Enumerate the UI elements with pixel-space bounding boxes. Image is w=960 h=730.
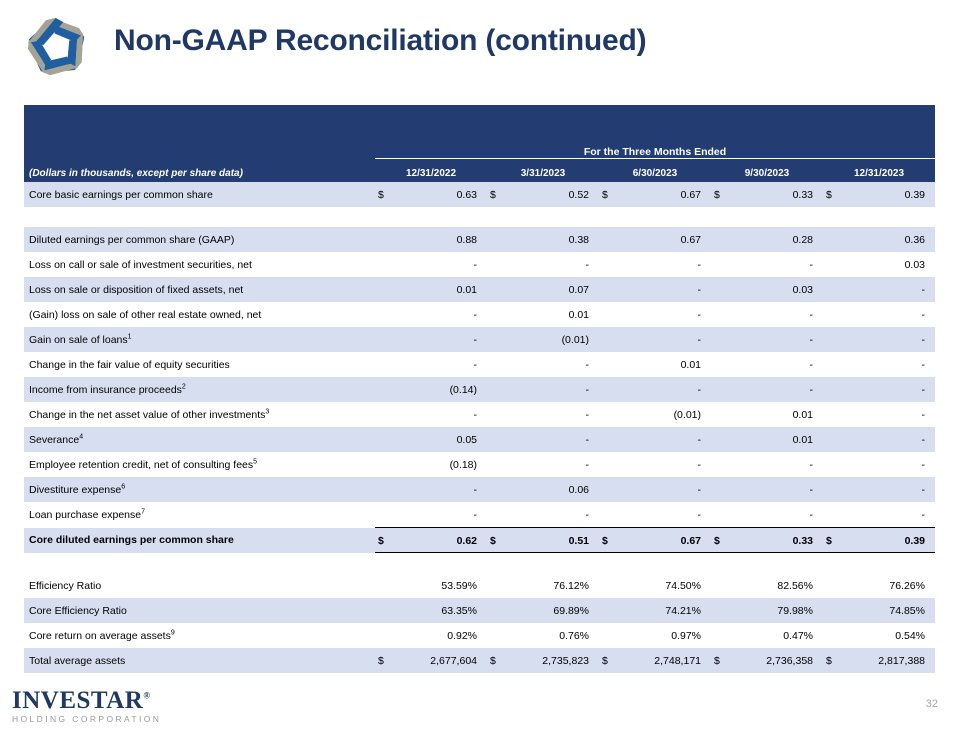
table-cell-value: 0.51: [509, 528, 599, 554]
table-cell-value: -: [397, 252, 487, 277]
table-cell-value: 0.03: [845, 252, 935, 277]
currency-symbol-cell: [375, 302, 397, 327]
table-row: Loss on sale or disposition of fixed ass…: [24, 277, 935, 302]
table-cell-value: 76.12%: [509, 573, 599, 598]
currency-symbol-cell: [375, 252, 397, 277]
table-cell-value: 0.01: [621, 352, 711, 377]
currency-symbol-cell: [823, 352, 845, 377]
currency-symbol-cell: [823, 477, 845, 502]
row-label: Loss on sale or disposition of fixed ass…: [24, 277, 375, 302]
table-row: Efficiency Ratio53.59%76.12%74.50%82.56%…: [24, 573, 935, 598]
table-cell-value: (0.14): [397, 377, 487, 402]
table-cell-value: -: [397, 502, 487, 528]
spacer-cell: [24, 207, 935, 227]
table-cell-value: 0.67: [621, 528, 711, 554]
table-cell-value: -: [621, 327, 711, 352]
currency-symbol-cell: [487, 623, 509, 648]
currency-symbol-cell: [599, 573, 621, 598]
currency-symbol-cell: [375, 227, 397, 252]
unit-label: (Dollars in thousands, except per share …: [24, 159, 375, 183]
table-row: Loan purchase expense7-----: [24, 502, 935, 528]
table-cell-value: -: [733, 477, 823, 502]
currency-symbol-cell: [823, 327, 845, 352]
currency-symbol-cell: $: [711, 182, 733, 207]
table-cell-value: 69.89%: [509, 598, 599, 623]
currency-symbol-cell: [823, 623, 845, 648]
table-cell-value: 2,817,388: [845, 648, 935, 673]
currency-symbol-cell: [823, 227, 845, 252]
table-cell-value: (0.18): [397, 452, 487, 477]
table-cell-value: -: [845, 402, 935, 427]
spacer-cell: [24, 553, 935, 573]
table-cell-value: 79.98%: [733, 598, 823, 623]
currency-symbol-cell: [375, 573, 397, 598]
table-row: Diluted earnings per common share (GAAP)…: [24, 227, 935, 252]
currency-symbol-cell: [711, 302, 733, 327]
table-row: Core diluted earnings per common share$0…: [24, 528, 935, 554]
currency-symbol-cell: [487, 427, 509, 452]
currency-symbol-cell: [711, 252, 733, 277]
currency-symbol-cell: $: [375, 182, 397, 207]
currency-symbol-cell: $: [487, 528, 509, 554]
table-cell-value: 0.07: [509, 277, 599, 302]
row-label: Divestiture expense6: [24, 477, 375, 502]
column-header-1: 3/31/2023: [487, 159, 599, 183]
table-cell-value: 0.06: [509, 477, 599, 502]
row-label: Change in the fair value of equity secur…: [24, 352, 375, 377]
table-cell-value: -: [509, 427, 599, 452]
table-cell-value: -: [397, 302, 487, 327]
currency-symbol-cell: [487, 402, 509, 427]
footnote-marker: 2: [182, 383, 186, 390]
currency-symbol-cell: $: [823, 648, 845, 673]
table-cell-value: -: [509, 377, 599, 402]
row-label: Severance4: [24, 427, 375, 452]
table-cell-value: -: [621, 377, 711, 402]
currency-symbol-cell: $: [823, 182, 845, 207]
table-cell-value: (0.01): [509, 327, 599, 352]
currency-symbol-cell: [599, 302, 621, 327]
table-cell-value: 0.76%: [509, 623, 599, 648]
table-row: Core Efficiency Ratio63.35%69.89%74.21%7…: [24, 598, 935, 623]
currency-symbol-cell: [375, 427, 397, 452]
currency-symbol-cell: [711, 277, 733, 302]
currency-symbol-cell: [487, 377, 509, 402]
footnote-marker: 6: [121, 483, 125, 490]
currency-symbol-cell: [823, 598, 845, 623]
table-cell-value: 0.92%: [397, 623, 487, 648]
table-row: Change in the net asset value of other i…: [24, 402, 935, 427]
table-cell-value: 63.35%: [397, 598, 487, 623]
footer-tagline: HOLDING CORPORATION: [12, 714, 172, 724]
currency-symbol-cell: [823, 452, 845, 477]
currency-symbol-cell: $: [599, 528, 621, 554]
table-cell-value: -: [845, 452, 935, 477]
row-spacer: [24, 553, 935, 573]
header-group-row: For the Three Months Ended: [24, 138, 935, 159]
table-cell-value: 0.39: [845, 528, 935, 554]
table-cell-value: -: [621, 502, 711, 528]
currency-symbol-cell: [375, 623, 397, 648]
row-spacer: [24, 207, 935, 227]
footnote-marker: 3: [265, 408, 269, 415]
currency-symbol-cell: [375, 402, 397, 427]
header-dates-row: (Dollars in thousands, except per share …: [24, 159, 935, 183]
currency-symbol-cell: [599, 227, 621, 252]
row-label: Diluted earnings per common share (GAAP): [24, 227, 375, 252]
footer-company-name: INVESTAR®: [12, 688, 172, 713]
currency-symbol-cell: [711, 477, 733, 502]
table-header: For the Three Months Ended (Dollars in t…: [24, 105, 935, 182]
table-cell-value: -: [733, 377, 823, 402]
table-cell-value: 74.85%: [845, 598, 935, 623]
currency-symbol-cell: $: [375, 648, 397, 673]
currency-symbol-cell: [599, 452, 621, 477]
row-label: Gain on sale of loans1: [24, 327, 375, 352]
table-cell-value: 0.33: [733, 528, 823, 554]
footnote-marker: 4: [79, 433, 83, 440]
table-cell-value: -: [621, 477, 711, 502]
page-number: 32: [926, 698, 938, 710]
currency-symbol-cell: $: [487, 648, 509, 673]
currency-symbol-cell: [599, 352, 621, 377]
currency-symbol-cell: [711, 573, 733, 598]
table-cell-value: 76.26%: [845, 573, 935, 598]
table-cell-value: -: [397, 327, 487, 352]
row-label: Efficiency Ratio: [24, 573, 375, 598]
column-header-0: 12/31/2022: [375, 159, 487, 183]
table-row: Severance40.05--0.01-: [24, 427, 935, 452]
table-cell-value: -: [845, 277, 935, 302]
table-body: Core basic earnings per common share$0.6…: [24, 182, 935, 673]
table-row: Divestiture expense6-0.06---: [24, 477, 935, 502]
currency-symbol-cell: $: [711, 528, 733, 554]
currency-symbol-cell: [711, 623, 733, 648]
table-cell-value: -: [621, 427, 711, 452]
row-label: Loss on call or sale of investment secur…: [24, 252, 375, 277]
table-cell-value: 0.05: [397, 427, 487, 452]
currency-symbol-cell: [823, 427, 845, 452]
currency-symbol-cell: [487, 252, 509, 277]
table-cell-value: -: [733, 252, 823, 277]
table-cell-value: -: [733, 327, 823, 352]
table-cell-value: 0.03: [733, 277, 823, 302]
table-cell-value: 0.36: [845, 227, 935, 252]
currency-symbol-cell: [599, 402, 621, 427]
currency-symbol-cell: $: [375, 528, 397, 554]
group-header-label: For the Three Months Ended: [375, 138, 935, 159]
table-cell-value: 0.01: [509, 302, 599, 327]
currency-symbol-cell: $: [599, 648, 621, 673]
table-row: Change in the fair value of equity secur…: [24, 352, 935, 377]
table-row: Employee retention credit, net of consul…: [24, 452, 935, 477]
column-header-4: 12/31/2023: [823, 159, 935, 183]
table-row: (Gain) loss on sale of other real estate…: [24, 302, 935, 327]
row-label: Core return on average assets9: [24, 623, 375, 648]
table-cell-value: 0.38: [509, 227, 599, 252]
column-header-3: 9/30/2023: [711, 159, 823, 183]
currency-symbol-cell: [599, 327, 621, 352]
currency-symbol-cell: [487, 502, 509, 528]
currency-symbol-cell: [375, 352, 397, 377]
table-cell-value: 0.33: [733, 182, 823, 207]
table-cell-value: -: [509, 502, 599, 528]
currency-symbol-cell: [375, 598, 397, 623]
currency-symbol-cell: [823, 377, 845, 402]
currency-symbol-cell: [487, 452, 509, 477]
currency-symbol-cell: [711, 377, 733, 402]
currency-symbol-cell: [823, 573, 845, 598]
currency-symbol-cell: [823, 252, 845, 277]
row-label: Core diluted earnings per common share: [24, 528, 375, 554]
currency-symbol-cell: [599, 427, 621, 452]
footer-logo: INVESTAR® HOLDING CORPORATION: [12, 688, 172, 724]
currency-symbol-cell: [487, 327, 509, 352]
currency-symbol-cell: [487, 227, 509, 252]
footer-company-text: INVESTAR: [12, 687, 143, 714]
footnote-marker: 5: [253, 458, 257, 465]
table-row: Core return on average assets90.92%0.76%…: [24, 623, 935, 648]
table-cell-value: -: [621, 452, 711, 477]
table-cell-value: -: [621, 277, 711, 302]
currency-symbol-cell: [487, 598, 509, 623]
currency-symbol-cell: [823, 277, 845, 302]
footnote-marker: 7: [141, 508, 145, 515]
row-label: (Gain) loss on sale of other real estate…: [24, 302, 375, 327]
currency-symbol-cell: [375, 452, 397, 477]
table-cell-value: 0.01: [397, 277, 487, 302]
currency-symbol-cell: [711, 598, 733, 623]
table-row: Income from insurance proceeds2(0.14)---…: [24, 377, 935, 402]
table-cell-value: -: [845, 477, 935, 502]
currency-symbol-cell: $: [823, 528, 845, 554]
currency-symbol-cell: [487, 277, 509, 302]
table-cell-value: 0.54%: [845, 623, 935, 648]
table-cell-value: 2,736,358: [733, 648, 823, 673]
currency-symbol-cell: [487, 302, 509, 327]
row-label: Core Efficiency Ratio: [24, 598, 375, 623]
table-row: Loss on call or sale of investment secur…: [24, 252, 935, 277]
table-cell-value: -: [397, 402, 487, 427]
table-cell-value: -: [733, 452, 823, 477]
currency-symbol-cell: [375, 377, 397, 402]
table-cell-value: 74.21%: [621, 598, 711, 623]
currency-symbol-cell: [823, 402, 845, 427]
table-cell-value: 0.88: [397, 227, 487, 252]
table-cell-value: 74.50%: [621, 573, 711, 598]
table-cell-value: -: [397, 477, 487, 502]
currency-symbol-cell: [487, 477, 509, 502]
table-cell-value: (0.01): [621, 402, 711, 427]
table-cell-value: -: [509, 402, 599, 427]
currency-symbol-cell: [375, 502, 397, 528]
table-cell-value: 0.52: [509, 182, 599, 207]
row-label: Change in the net asset value of other i…: [24, 402, 375, 427]
currency-symbol-cell: [599, 598, 621, 623]
table-cell-value: 0.28: [733, 227, 823, 252]
table-cell-value: 0.01: [733, 427, 823, 452]
currency-symbol-cell: [599, 377, 621, 402]
currency-symbol-cell: [375, 327, 397, 352]
table-cell-value: -: [845, 327, 935, 352]
currency-symbol-cell: [487, 352, 509, 377]
currency-symbol-cell: $: [487, 182, 509, 207]
currency-symbol-cell: $: [599, 182, 621, 207]
currency-symbol-cell: [599, 252, 621, 277]
table-cell-value: -: [845, 502, 935, 528]
currency-symbol-cell: [711, 402, 733, 427]
table-cell-value: 0.97%: [621, 623, 711, 648]
row-label: Core basic earnings per common share: [24, 182, 375, 207]
table-cell-value: -: [845, 302, 935, 327]
table-cell-value: -: [733, 352, 823, 377]
row-label: Loan purchase expense7: [24, 502, 375, 528]
non-gaap-reconciliation-table: For the Three Months Ended (Dollars in t…: [24, 105, 935, 673]
table-cell-value: 2,735,823: [509, 648, 599, 673]
currency-symbol-cell: $: [711, 648, 733, 673]
row-label: Employee retention credit, net of consul…: [24, 452, 375, 477]
table-cell-value: 2,748,171: [621, 648, 711, 673]
table-cell-value: 0.01: [733, 402, 823, 427]
table-cell-value: 0.67: [621, 182, 711, 207]
table-cell-value: 53.59%: [397, 573, 487, 598]
table-cell-value: 0.63: [397, 182, 487, 207]
currency-symbol-cell: [711, 427, 733, 452]
page-title: Non-GAAP Reconciliation (continued): [114, 24, 646, 58]
table-cell-value: 0.47%: [733, 623, 823, 648]
table-cell-value: -: [509, 352, 599, 377]
table-cell-value: -: [621, 252, 711, 277]
currency-symbol-cell: [711, 502, 733, 528]
currency-symbol-cell: [487, 573, 509, 598]
table-cell-value: 0.39: [845, 182, 935, 207]
table-row: Core basic earnings per common share$0.6…: [24, 182, 935, 207]
currency-symbol-cell: [823, 502, 845, 528]
table-cell-value: -: [845, 377, 935, 402]
table-cell-value: 2,677,604: [397, 648, 487, 673]
row-label: Total average assets: [24, 648, 375, 673]
table-cell-value: 0.67: [621, 227, 711, 252]
currency-symbol-cell: [711, 452, 733, 477]
currency-symbol-cell: [599, 502, 621, 528]
currency-symbol-cell: [375, 477, 397, 502]
currency-symbol-cell: [711, 352, 733, 377]
investar-pinwheel-logo: [14, 6, 100, 88]
table-cell-value: -: [733, 502, 823, 528]
table-cell-value: 0.62: [397, 528, 487, 554]
header-band-top: [24, 105, 935, 138]
currency-symbol-cell: [711, 327, 733, 352]
table-row: Gain on sale of loans1-(0.01)---: [24, 327, 935, 352]
table-cell-value: -: [733, 302, 823, 327]
table-cell-value: -: [845, 427, 935, 452]
registered-trademark-icon: ®: [143, 691, 150, 701]
currency-symbol-cell: [599, 477, 621, 502]
footnote-marker: 9: [171, 629, 175, 636]
currency-symbol-cell: [599, 623, 621, 648]
footnote-marker: 1: [128, 333, 132, 340]
table-cell-value: -: [509, 452, 599, 477]
currency-symbol-cell: [823, 302, 845, 327]
table-cell-value: -: [845, 352, 935, 377]
currency-symbol-cell: [375, 277, 397, 302]
table-cell-value: -: [397, 352, 487, 377]
currency-symbol-cell: [599, 277, 621, 302]
table-cell-value: -: [621, 302, 711, 327]
currency-symbol-cell: [711, 227, 733, 252]
table-cell-value: 82.56%: [733, 573, 823, 598]
column-header-2: 6/30/2023: [599, 159, 711, 183]
table-cell-value: -: [509, 252, 599, 277]
row-label: Income from insurance proceeds2: [24, 377, 375, 402]
table-row: Total average assets$2,677,604$2,735,823…: [24, 648, 935, 673]
slide-header: Non-GAAP Reconciliation (continued): [0, 0, 960, 100]
